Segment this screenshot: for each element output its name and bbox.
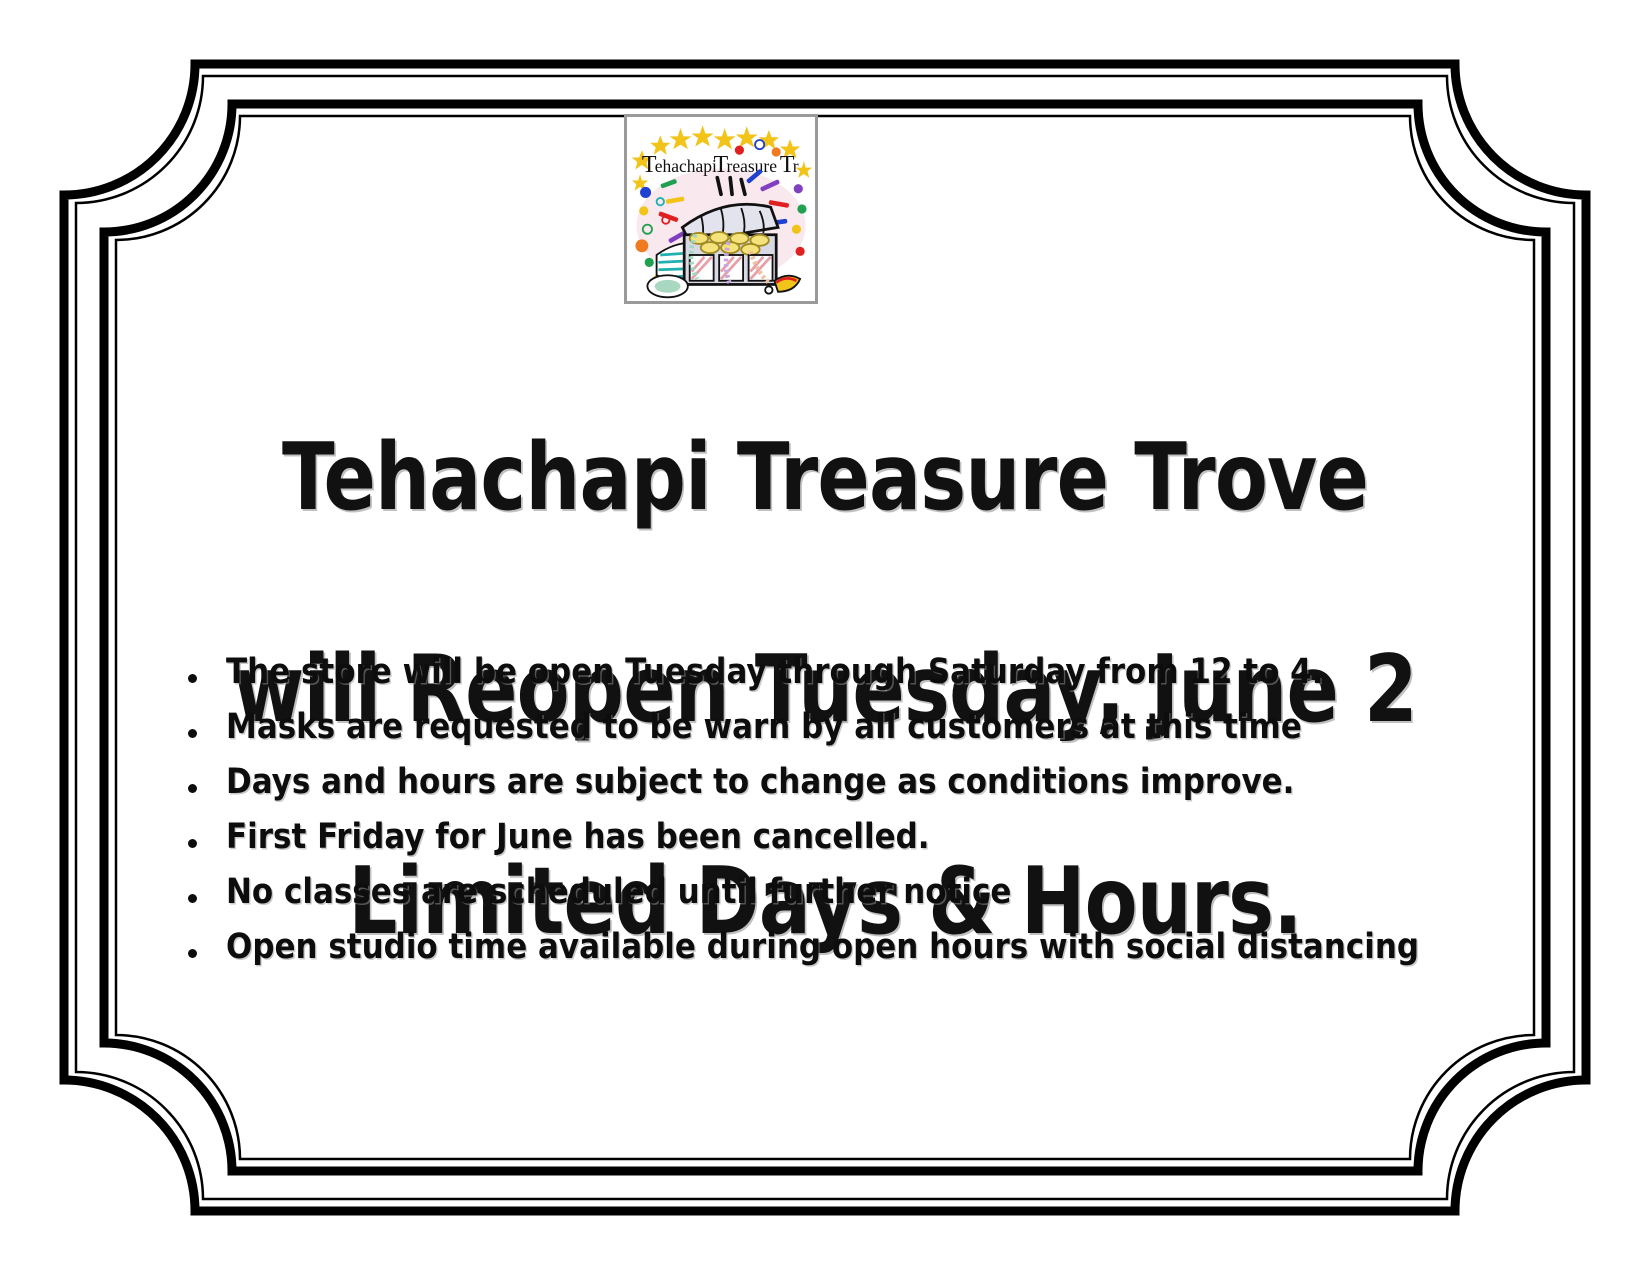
list-item-label: Open studio time available during open h… <box>226 923 1419 972</box>
list-item-label: The store will be open Tuesday through S… <box>226 648 1323 697</box>
list-item: Open studio time available during open h… <box>180 923 1510 972</box>
bullet-dot-icon <box>188 674 197 683</box>
list-item: The store will be open Tuesday through S… <box>180 648 1510 697</box>
list-item-label: Masks are requested to be warn by all cu… <box>226 703 1302 752</box>
bullet-dot-icon <box>188 784 197 793</box>
bullet-dot-icon <box>188 949 197 958</box>
logo-word-1: ehachapi <box>655 156 717 176</box>
list-item: Masks are requested to be warn by all cu… <box>180 703 1510 752</box>
logo-image: T ehachapi T reasure T r <box>624 114 818 304</box>
list-item: No classes are scheduled until further n… <box>180 868 1510 917</box>
bullet-dot-icon <box>188 729 197 738</box>
list-item-label: Days and hours are subject to change as … <box>226 758 1294 807</box>
flyer-page: T ehachapi T reasure T r <box>0 0 1650 1275</box>
bullet-dot-icon <box>188 839 197 848</box>
list-item-label: No classes are scheduled until further n… <box>226 868 1011 917</box>
treasure-chest-illustration: T ehachapi T reasure T r <box>627 117 815 301</box>
list-item: First Friday for June has been cancelled… <box>180 813 1510 862</box>
list-item-label: First Friday for June has been cancelled… <box>226 813 930 862</box>
bullet-dot-icon <box>188 894 197 903</box>
announcement-list: The store will be open Tuesday through S… <box>180 648 1510 978</box>
list-item: Days and hours are subject to change as … <box>180 758 1510 807</box>
headline-line-1: Tehachapi Treasure Trove <box>190 424 1460 530</box>
logo-word-2: reasure <box>727 156 778 176</box>
logo-word-3: r <box>793 156 799 176</box>
